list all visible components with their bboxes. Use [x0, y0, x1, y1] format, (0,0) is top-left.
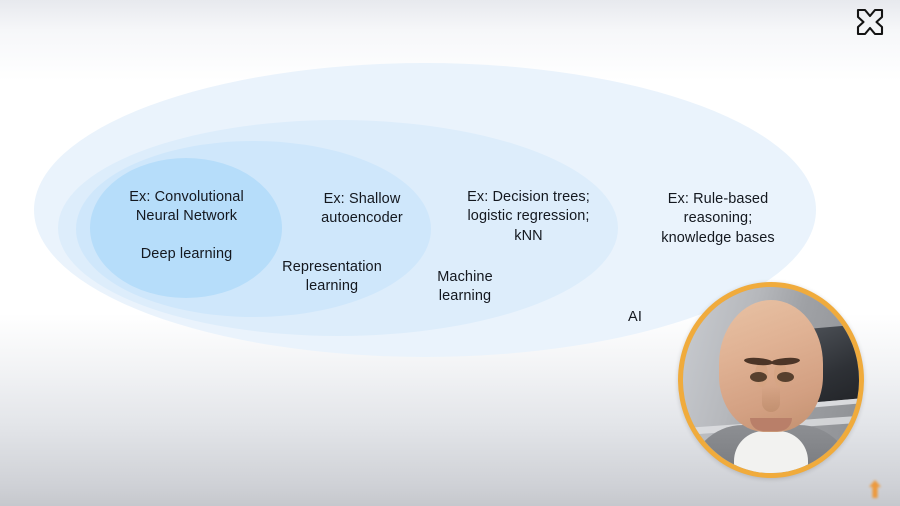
x-monogram-logo: [853, 5, 887, 39]
webcam-nose: [762, 386, 780, 412]
webcam-shirt: [734, 431, 808, 477]
example-label-representation-learning: Ex: Shallow autoencoder: [278, 190, 446, 229]
set-label-representation-learning: Representation learning: [258, 258, 406, 297]
webcam-eyebrow-right: [744, 357, 773, 367]
webcam-eyebrow-left: [771, 357, 800, 367]
pointer-cursor: [868, 480, 882, 498]
example-label-ai: Ex: Rule-based reasoning; knowledge base…: [628, 190, 808, 248]
set-label-machine-learning: Machine learning: [400, 268, 530, 307]
venn-ellipse-deep-learning: [90, 158, 282, 298]
webcam-mouth: [750, 418, 792, 431]
webcam-head: [719, 300, 823, 432]
example-label-machine-learning: Ex: Decision trees; logistic regression;…: [437, 188, 620, 246]
webcam-eye-left: [777, 372, 794, 382]
example-label-deep-learning: Ex: Convolutional Neural Network: [94, 188, 279, 227]
set-label-ai: AI: [600, 308, 670, 327]
set-label-deep-learning: Deep learning: [94, 245, 279, 264]
presenter-webcam-overlay[interactable]: [678, 282, 864, 478]
webcam-eye-right: [750, 372, 767, 382]
slide-canvas: Ex: Convolutional Neural Network Deep le…: [0, 0, 900, 506]
